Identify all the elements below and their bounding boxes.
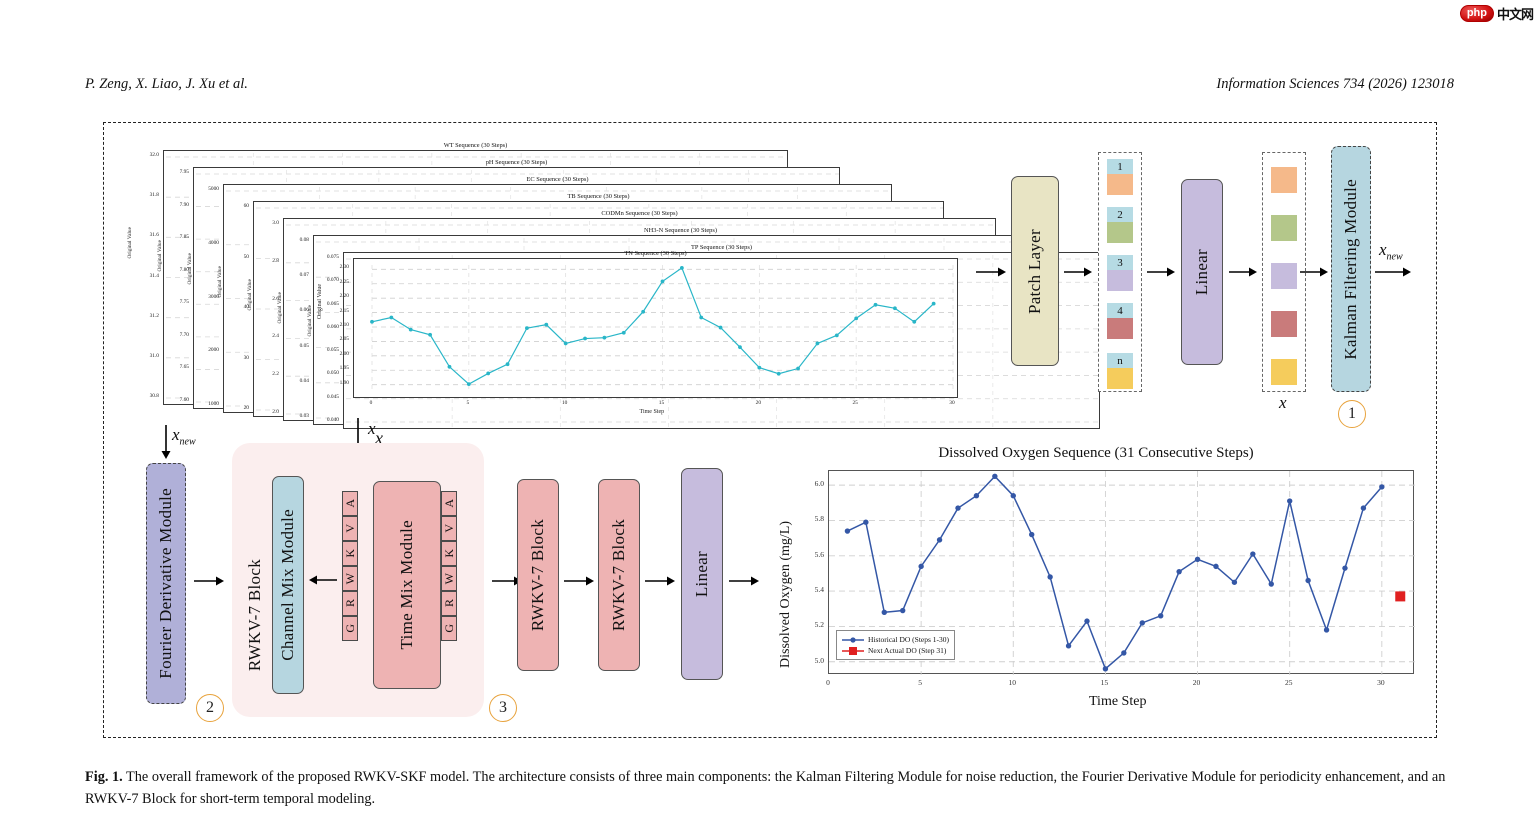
mini-plot-title: CODMn Sequence (30 Steps) bbox=[601, 210, 677, 217]
mini-plot-ytick: 7.80 bbox=[167, 267, 189, 273]
rwkv-gate-v[interactable]: V bbox=[342, 516, 358, 541]
tn-ytick: 1.95 bbox=[329, 365, 349, 371]
rwkv-gate-r[interactable]: R bbox=[441, 591, 457, 616]
mini-plot-ytick: 31.8 bbox=[137, 192, 159, 198]
mini-plot-ytick: 2.4 bbox=[257, 333, 279, 339]
do-ytick: 6.0 bbox=[806, 479, 824, 488]
tn-xtick: 25 bbox=[847, 400, 863, 406]
arrow-timemix-to-channelmix bbox=[309, 574, 337, 586]
mini-plot-ytick: 3000 bbox=[197, 294, 219, 300]
patch-token-number: n bbox=[1107, 353, 1133, 368]
rwkv-gate-label: A bbox=[343, 499, 358, 508]
do-ytick: 5.0 bbox=[806, 656, 824, 665]
mini-plot-title: pH Sequence (30 Steps) bbox=[486, 159, 548, 166]
rwkv-gate-r[interactable]: R bbox=[342, 591, 358, 616]
patch-token-number: 1 bbox=[1107, 159, 1133, 174]
mini-plot-title: TB Sequence (30 Steps) bbox=[568, 193, 630, 200]
mini-plot-ytick: 60 bbox=[227, 203, 249, 209]
rwkv-gate-a[interactable]: A bbox=[342, 491, 358, 516]
do-ytick: 5.2 bbox=[806, 620, 824, 629]
tn-chart-ylabel: Original Value bbox=[317, 284, 323, 319]
rwkv-gate-label: G bbox=[442, 624, 457, 633]
mini-plot-ytick: 20 bbox=[227, 405, 249, 411]
mini-plot-ytick: 40 bbox=[227, 304, 249, 310]
module-patch-layer-label: Patch Layer bbox=[1025, 229, 1045, 314]
mini-plot-ytick: 4000 bbox=[197, 240, 219, 246]
do-xtick: 20 bbox=[1188, 678, 1206, 687]
mini-plot-ytick: 2.0 bbox=[257, 409, 279, 415]
module-time-mix-label: Time Mix Module bbox=[397, 520, 417, 650]
mini-plot-ytick: 7.95 bbox=[167, 169, 189, 175]
module-kalman-filtering-label: Kalman Filtering Module bbox=[1341, 179, 1361, 360]
module-linear-2-label: Linear bbox=[692, 551, 712, 597]
mini-plot-title: WT Sequence (30 Steps) bbox=[444, 142, 508, 149]
arrow-to-patch-layer bbox=[976, 266, 1006, 278]
rwkv-gate-k[interactable]: K bbox=[441, 541, 457, 566]
do-xtick: 15 bbox=[1095, 678, 1113, 687]
rwkv-gate-label: V bbox=[343, 524, 358, 533]
patch-token[interactable]: n bbox=[1107, 353, 1133, 389]
mini-plot-ytick: 32.0 bbox=[137, 152, 159, 158]
module-patch-layer[interactable]: Patch Layer bbox=[1011, 176, 1059, 366]
arrow-tokens-to-linear bbox=[1147, 266, 1175, 278]
rwkv-7-block-label-wrap: RWKV-7 Block bbox=[244, 520, 266, 710]
mini-plot-ytick: 0.05 bbox=[287, 343, 309, 349]
do-chart-title: Dissolved Oxygen Sequence (31 Consecutiv… bbox=[766, 445, 1426, 462]
rwkv-gate-k[interactable]: K bbox=[342, 541, 358, 566]
rwkv-gate-label: W bbox=[442, 573, 457, 584]
mini-plot-ytick: 30 bbox=[227, 355, 249, 361]
dissolved-oxygen-chart: Dissolved Oxygen Sequence (31 Consecutiv… bbox=[766, 445, 1426, 720]
tn-ytick: 2.20 bbox=[329, 293, 349, 299]
rwkv-gate-w[interactable]: W bbox=[441, 566, 457, 591]
patch-token-color-swatch bbox=[1107, 222, 1133, 243]
do-xtick: 5 bbox=[911, 678, 929, 687]
arrow-block3-to-linear2 bbox=[645, 575, 675, 587]
mini-plot-ytick: 0.050 bbox=[317, 370, 339, 376]
rwkv-input-x-label: x bbox=[368, 419, 376, 439]
tn-ytick: 2.00 bbox=[329, 351, 349, 357]
tn-xtick: 15 bbox=[654, 400, 670, 406]
mini-plot-ytick: 2.6 bbox=[257, 296, 279, 302]
tn-ytick: 2.25 bbox=[329, 279, 349, 285]
rwkv-gate-label: K bbox=[442, 549, 457, 558]
mini-plot-ytick: 31.4 bbox=[137, 273, 159, 279]
module-rwkv-block-3-label: RWKV-7 Block bbox=[609, 519, 629, 631]
arrow-fourier-to-rwkv bbox=[194, 575, 224, 587]
rwkv-gate-a[interactable]: A bbox=[441, 491, 457, 516]
tn-ytick: 2.05 bbox=[329, 336, 349, 342]
module-linear-2[interactable]: Linear bbox=[681, 468, 723, 680]
rwkv-gate-label: A bbox=[442, 499, 457, 508]
rwkv-gate-g[interactable]: G bbox=[342, 616, 358, 641]
rwkv-gate-g[interactable]: G bbox=[441, 616, 457, 641]
mini-plot-ytick: 31.6 bbox=[137, 232, 159, 238]
mini-plot-ylabel: Original Value bbox=[247, 279, 253, 311]
tn-xtick: 30 bbox=[944, 400, 960, 406]
mini-plot-ytick: 0.07 bbox=[287, 272, 309, 278]
module-rwkv-block-2-label: RWKV-7 Block bbox=[528, 519, 548, 631]
embedding-swatch bbox=[1271, 215, 1297, 241]
do-legend-row: Historical DO (Steps 1-30) bbox=[842, 634, 949, 645]
mini-plot-ytick: 0.03 bbox=[287, 413, 309, 419]
mini-plot-ytick: 31.0 bbox=[137, 353, 159, 359]
tn-ytick: 2.10 bbox=[329, 322, 349, 328]
tn-ytick: 2.30 bbox=[329, 264, 349, 270]
do-legend-label: Next Actual DO (Step 31) bbox=[868, 645, 946, 656]
rwkv-gate-label: R bbox=[343, 599, 358, 607]
running-head-authors: P. Zeng, X. Liao, J. Xu et al. bbox=[85, 76, 248, 93]
patch-token[interactable]: 3 bbox=[1107, 255, 1133, 291]
do-xtick: 0 bbox=[819, 678, 837, 687]
arrow-embeddings-to-kalman bbox=[1300, 266, 1328, 278]
patch-token-number: 4 bbox=[1107, 303, 1133, 318]
do-chart-xlabel: Time Step bbox=[1089, 694, 1146, 710]
figure-caption-label: Fig. 1. bbox=[85, 769, 123, 785]
mini-plot-ytick: 7.65 bbox=[167, 364, 189, 370]
mini-plot-ylabel: Original Value bbox=[307, 305, 313, 337]
tn-xtick: 0 bbox=[363, 400, 379, 406]
rwkv-gate-v[interactable]: V bbox=[441, 516, 457, 541]
do-xtick: 10 bbox=[1003, 678, 1021, 687]
patch-token-color-swatch bbox=[1107, 368, 1133, 389]
mini-plot-title: NH3-N Sequence (30 Steps) bbox=[644, 227, 717, 234]
tn-xtick: 10 bbox=[557, 400, 573, 406]
marker-circle-2: 2 bbox=[196, 694, 224, 722]
do-ytick: 5.6 bbox=[806, 550, 824, 559]
rwkv-7-block-label: RWKV-7 Block bbox=[245, 559, 265, 671]
embedding-swatch bbox=[1271, 311, 1297, 337]
embedding-x-label: x bbox=[1279, 393, 1287, 413]
mini-plot-ytick: 0.06 bbox=[287, 307, 309, 313]
kalman-output-xnew-label: xnew bbox=[1379, 240, 1403, 262]
mini-plot-ytick: 31.2 bbox=[137, 313, 159, 319]
rwkv-gate-w[interactable]: W bbox=[342, 566, 358, 591]
arrow-patch-to-tokens bbox=[1064, 266, 1092, 278]
fourier-input-xnew-label: xnew bbox=[172, 425, 196, 447]
mini-plot-ytick: 5000 bbox=[197, 186, 219, 192]
mini-plot-ytick: 50 bbox=[227, 254, 249, 260]
patch-token-column: 1234...n bbox=[1098, 152, 1142, 392]
patch-token[interactable]: 1 bbox=[1107, 159, 1133, 195]
mini-plot-ytick: 30.8 bbox=[137, 393, 159, 399]
mini-plot-ytick: 0.045 bbox=[317, 394, 339, 400]
mini-plot-ytick: 7.70 bbox=[167, 332, 189, 338]
patch-token-number: 2 bbox=[1107, 207, 1133, 222]
module-channel-mix[interactable]: Channel Mix Module bbox=[272, 476, 304, 694]
rwkv-gate-label: R bbox=[442, 599, 457, 607]
mini-plot-ylabel: Original Value bbox=[127, 227, 133, 259]
marker-circle-1: 1 bbox=[1338, 400, 1366, 428]
tn-ytick: 1.90 bbox=[329, 380, 349, 386]
mini-plot-ylabel: Original Value bbox=[217, 266, 223, 298]
do-xtick: 25 bbox=[1280, 678, 1298, 687]
module-rwkv-block-3[interactable]: RWKV-7 Block bbox=[598, 479, 640, 671]
mini-plot-ylabel: Original Value bbox=[157, 240, 163, 272]
patch-token[interactable]: 4 bbox=[1107, 303, 1133, 339]
mini-plot-ylabel: Original Value bbox=[277, 292, 283, 324]
mini-plot-ytick: 2.8 bbox=[257, 258, 279, 264]
mini-plot-ytick: 0.08 bbox=[287, 237, 309, 243]
tn-chart-xlabel: Time Step bbox=[640, 409, 665, 415]
do-legend-label: Historical DO (Steps 1-30) bbox=[868, 634, 949, 645]
arrow-kalman-out bbox=[1375, 266, 1411, 278]
running-head: P. Zeng, X. Liao, J. Xu et al. Informati… bbox=[0, 76, 1539, 96]
tn-chart-title: TN Sequence (30 Steps) bbox=[624, 250, 686, 257]
rwkv-gate-label: G bbox=[343, 624, 358, 633]
rwkv-gate-label: K bbox=[343, 549, 358, 558]
patch-token-color-swatch bbox=[1107, 174, 1133, 195]
rwkv-gate-label: W bbox=[343, 573, 358, 584]
legend-line-marker-icon bbox=[842, 636, 864, 644]
module-rwkv-block-2[interactable]: RWKV-7 Block bbox=[517, 479, 559, 671]
arrow-linear2-to-chart bbox=[729, 575, 759, 587]
mini-plot-ytick: 7.75 bbox=[167, 299, 189, 305]
module-linear-1-label: Linear bbox=[1192, 249, 1212, 295]
mini-plot-ytick: 7.60 bbox=[167, 397, 189, 403]
mini-plot-ytick: 1000 bbox=[197, 401, 219, 407]
embedding-swatch bbox=[1271, 167, 1297, 193]
do-ytick: 5.4 bbox=[806, 585, 824, 594]
patch-token-color-swatch bbox=[1107, 318, 1133, 339]
watermark-logo: php 中文网 bbox=[1460, 4, 1533, 23]
do-xtick: 30 bbox=[1372, 678, 1390, 687]
letter-stack-right: AVKWRG bbox=[441, 491, 457, 641]
tn-xtick: 5 bbox=[460, 400, 476, 406]
letter-stack-left: AVKWRG bbox=[342, 491, 358, 641]
mini-plot-ytick: 0.04 bbox=[287, 378, 309, 384]
mini-plot-ytick: 7.85 bbox=[167, 234, 189, 240]
do-ytick: 5.8 bbox=[806, 514, 824, 523]
figure-caption: Fig. 1. The overall framework of the pro… bbox=[85, 766, 1455, 810]
module-linear-1[interactable]: Linear bbox=[1181, 179, 1223, 365]
figure-caption-text: The overall framework of the proposed RW… bbox=[85, 769, 1445, 807]
mini-plot-title: EC Sequence (30 Steps) bbox=[527, 176, 589, 183]
mini-plot-ylabel: Original Value bbox=[187, 253, 193, 285]
module-fourier-derivative-label: Fourier Derivative Module bbox=[156, 488, 176, 679]
patch-token[interactable]: 2 bbox=[1107, 207, 1133, 243]
mini-plot-ytick: 0.040 bbox=[317, 417, 339, 423]
mini-plot-ytick: 3.0 bbox=[257, 220, 279, 226]
mini-plot-ytick: 7.90 bbox=[167, 202, 189, 208]
marker-circle-3: 3 bbox=[489, 694, 517, 722]
embedding-swatch bbox=[1271, 359, 1297, 385]
embedding-swatch bbox=[1271, 263, 1297, 289]
module-kalman-filtering[interactable]: Kalman Filtering Module bbox=[1331, 146, 1371, 392]
patch-token-number: 3 bbox=[1107, 255, 1133, 270]
running-head-journal: Information Sciences 734 (2026) 123018 bbox=[1216, 76, 1454, 93]
mini-plot-title: TP Sequence (30 Steps) bbox=[691, 244, 752, 251]
mini-plot-ytick: 2.2 bbox=[257, 371, 279, 377]
do-legend-row: Next Actual DO (Step 31) bbox=[842, 645, 949, 656]
arrow-block2-to-block3 bbox=[564, 575, 594, 587]
arrow-down-to-fourier bbox=[160, 425, 172, 459]
php-badge-icon: php bbox=[1460, 5, 1494, 22]
module-time-mix[interactable]: Time Mix Module bbox=[373, 481, 441, 689]
module-channel-mix-label: Channel Mix Module bbox=[278, 509, 298, 661]
tn-xtick: 20 bbox=[750, 400, 766, 406]
arrow-linear-to-embeddings bbox=[1229, 266, 1257, 278]
mini-plot-ytick: 2000 bbox=[197, 347, 219, 353]
patch-token-color-swatch bbox=[1107, 270, 1133, 291]
do-chart-ylabel: Dissolved Oxygen (mg/L) bbox=[778, 476, 794, 668]
do-chart-legend[interactable]: Historical DO (Steps 1-30)Next Actual DO… bbox=[836, 630, 955, 660]
module-fourier-derivative[interactable]: Fourier Derivative Module bbox=[146, 463, 186, 704]
tn-ytick: 2.15 bbox=[329, 308, 349, 314]
tn-sequence-chart: TN Sequence (30 Steps) bbox=[353, 258, 958, 398]
mini-plot-ytick: 0.075 bbox=[317, 254, 339, 260]
legend-square-marker-icon bbox=[842, 647, 864, 655]
watermark-chinese-text: 中文网 bbox=[1497, 4, 1533, 23]
rwkv-gate-label: V bbox=[442, 524, 457, 533]
